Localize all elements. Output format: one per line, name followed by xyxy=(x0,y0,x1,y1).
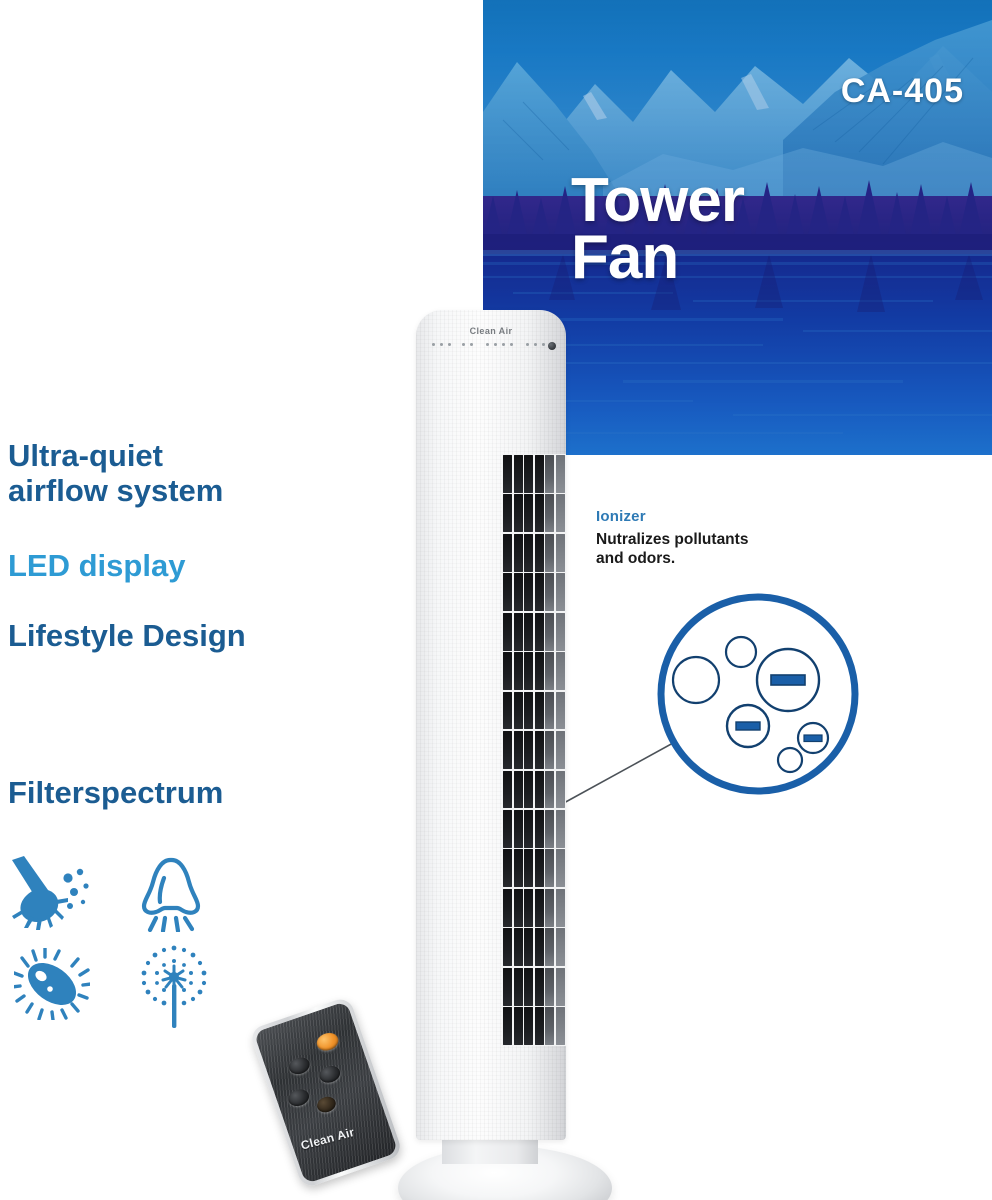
hero-product-title: Tower Fan xyxy=(571,172,744,286)
indicator-dot xyxy=(462,343,465,346)
feature-airflow-line2: airflow system xyxy=(8,473,348,508)
fan-brand-logo: Clean Air xyxy=(416,326,566,336)
hero-title-line2: Fan xyxy=(571,229,744,286)
indicator-dot xyxy=(510,343,513,346)
hero-model-number: CA-405 xyxy=(841,72,964,111)
filterspectrum-heading: Filterspectrum xyxy=(8,775,223,810)
indicator-dot xyxy=(494,343,497,346)
indicator-dot xyxy=(542,343,545,346)
remote-face xyxy=(254,1001,399,1184)
product-marketing-image: CA-405 Tower Fan Ultra-quiet airflow sys… xyxy=(0,0,992,1200)
indicator-dot xyxy=(486,343,489,346)
fan-air-outlet-grille xyxy=(502,454,566,1046)
ionizer-diagram xyxy=(648,592,868,797)
indicator-dot xyxy=(470,343,473,346)
pollen-dandelion-icon xyxy=(136,944,214,1033)
bacteria-icon xyxy=(14,948,90,1025)
indicator-dot xyxy=(502,343,505,346)
dust-icon xyxy=(8,856,92,935)
indicator-dot xyxy=(440,343,443,346)
feature-led-display: LED display xyxy=(8,548,185,583)
odor-nose-icon xyxy=(132,856,208,937)
indicator-dot xyxy=(448,343,451,346)
indicator-dot xyxy=(432,343,435,346)
feature-airflow: Ultra-quiet airflow system xyxy=(8,438,348,509)
indicator-dot xyxy=(534,343,537,346)
filterspectrum-icon-grid xyxy=(0,856,230,1036)
fan-indicator-dots xyxy=(428,343,556,350)
indicator-dot xyxy=(526,343,529,346)
feature-airflow-line1: Ultra-quiet xyxy=(8,438,348,473)
fan-control-panel[interactable] xyxy=(428,343,556,359)
remote-shell: Clean Air xyxy=(249,996,404,1189)
feature-lifestyle-design: Lifestyle Design xyxy=(8,618,246,653)
ir-receiver xyxy=(548,342,556,350)
